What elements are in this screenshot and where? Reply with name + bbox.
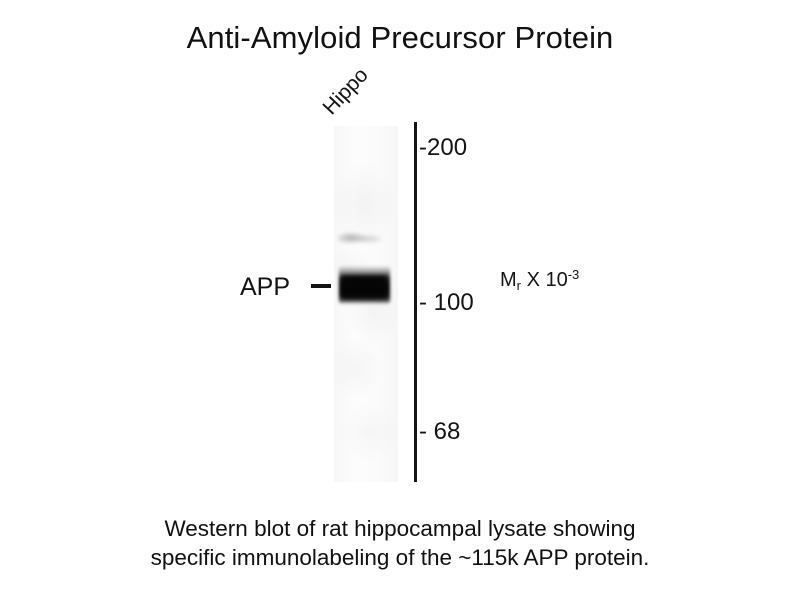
blot-lane-hippo bbox=[334, 126, 398, 482]
faint-upper-band bbox=[338, 228, 382, 248]
western-blot-figure: Anti-Amyloid Precursor Protein Hippo APP… bbox=[0, 0, 800, 600]
mr-prefix: M bbox=[500, 269, 517, 291]
figure-caption: Western blot of rat hippocampal lysate s… bbox=[0, 514, 800, 572]
membrane-background bbox=[334, 126, 398, 482]
marker-label-200: -200 bbox=[419, 134, 467, 162]
caption-line-1: Western blot of rat hippocampal lysate s… bbox=[0, 514, 800, 543]
molecular-weight-axis-line bbox=[414, 122, 417, 482]
mr-middle: X 10 bbox=[521, 269, 568, 291]
figure-title: Anti-Amyloid Precursor Protein bbox=[0, 20, 800, 56]
caption-line-2: specific immunolabeling of the ~115k APP… bbox=[0, 543, 800, 572]
app-band-core bbox=[342, 276, 386, 298]
mr-superscript: -3 bbox=[568, 267, 580, 282]
app-band-pointer-icon bbox=[311, 284, 331, 288]
molecular-weight-axis-caption: Mr X 10-3 bbox=[500, 267, 579, 293]
marker-label-100: - 100 bbox=[419, 289, 474, 317]
app-band-label: APP bbox=[240, 273, 290, 302]
lane-label-hippo: Hippo bbox=[318, 63, 373, 120]
marker-label-68: - 68 bbox=[419, 418, 460, 446]
